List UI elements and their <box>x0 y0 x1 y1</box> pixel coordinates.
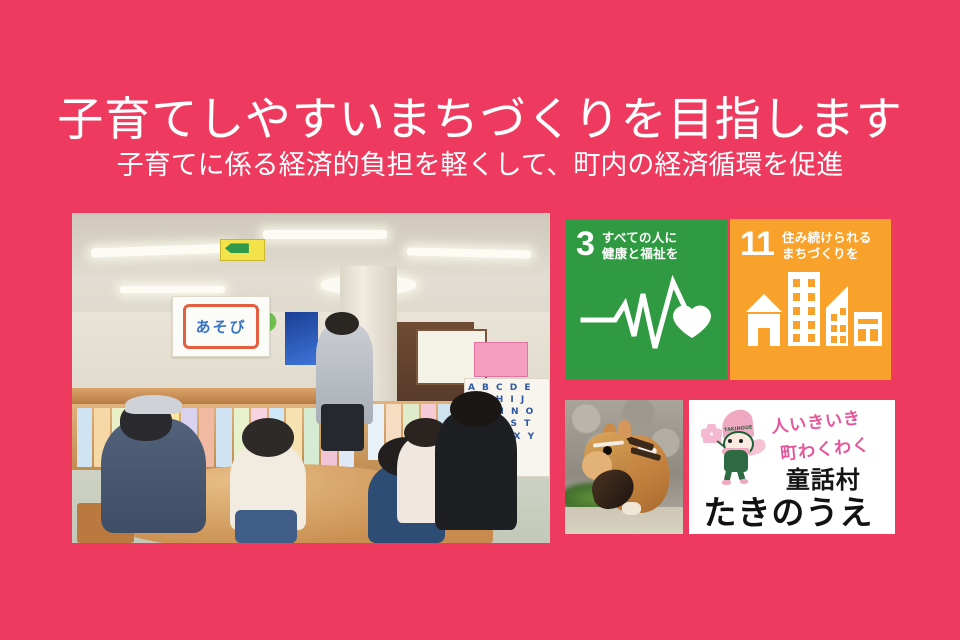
blue-poster <box>285 312 318 365</box>
child-center-head <box>242 418 295 458</box>
mascot-eye <box>728 439 732 443</box>
asobi-sign: あそび <box>172 296 270 357</box>
takinoue-mascot: TAKINOUE <box>701 408 771 488</box>
mascot-shoe <box>740 479 748 484</box>
parent-right <box>435 411 516 530</box>
sdg-card-3: 3 すべての人に 健康と福祉を <box>566 219 727 380</box>
sdg-card-11-header: 11 住み続けられる まちづくりを <box>730 219 891 262</box>
heartbeat-pulse-icon <box>566 264 727 356</box>
chipmunk-paw <box>622 502 641 515</box>
sdg-card-3-label: すべての人に 健康と福祉を <box>602 230 679 262</box>
parent-left-cap <box>125 395 182 415</box>
sdg-card-3-number: 3 <box>576 230 594 259</box>
page-title: 子育てしやすいまちづくりを目指します <box>0 96 960 142</box>
sdg-card-3-header: 3 すべての人に 健康と福祉を <box>566 219 727 262</box>
library-scene: あそび <box>72 213 550 543</box>
page-subtitle: 子育てに係る経済的負担を軽くして、町内の経済循環を促進 <box>0 152 960 179</box>
sdg-card-11: 11 住み続けられる まちづくりを <box>730 219 891 380</box>
takinoue-town-logo: TAKINOUE 人いきいき 町わくわく 童話村 たきのうえ <box>689 400 895 534</box>
chipmunk-photo <box>565 400 683 534</box>
slide-canvas: 子育てしやすいまちづくりを目指します 子育てに係る経済的負担を軽くして、町内の経… <box>0 0 960 640</box>
sdg-card-11-label: 住み続けられる まちづくりを <box>782 230 872 262</box>
library-childcare-photo: あそび <box>72 213 550 543</box>
logo-town-name: たきのうえ <box>703 486 873 534</box>
child-center-pants <box>235 510 297 543</box>
mascot-eye <box>739 439 743 443</box>
ceiling-light <box>120 286 225 293</box>
sdg-card-11-number: 11 <box>740 230 774 259</box>
ceiling-light <box>263 230 387 239</box>
teen-visitor-head <box>325 312 358 335</box>
mascot-shoe <box>722 480 730 485</box>
asobi-sign-text: あそび <box>173 297 269 356</box>
teen-visitor-pants <box>321 404 364 450</box>
pink-poster <box>474 342 529 377</box>
city-buildings-icon <box>730 264 891 356</box>
